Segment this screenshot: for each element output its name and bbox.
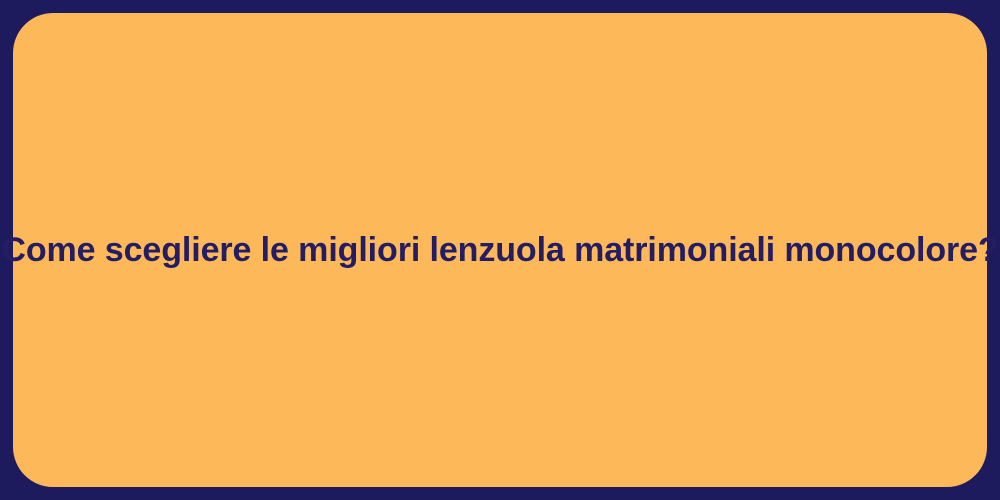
- card-panel: Come scegliere le migliori lenzuola matr…: [13, 13, 987, 487]
- page-title: Come scegliere le migliori lenzuola matr…: [1, 230, 998, 271]
- card-frame: Come scegliere le migliori lenzuola matr…: [0, 0, 1000, 500]
